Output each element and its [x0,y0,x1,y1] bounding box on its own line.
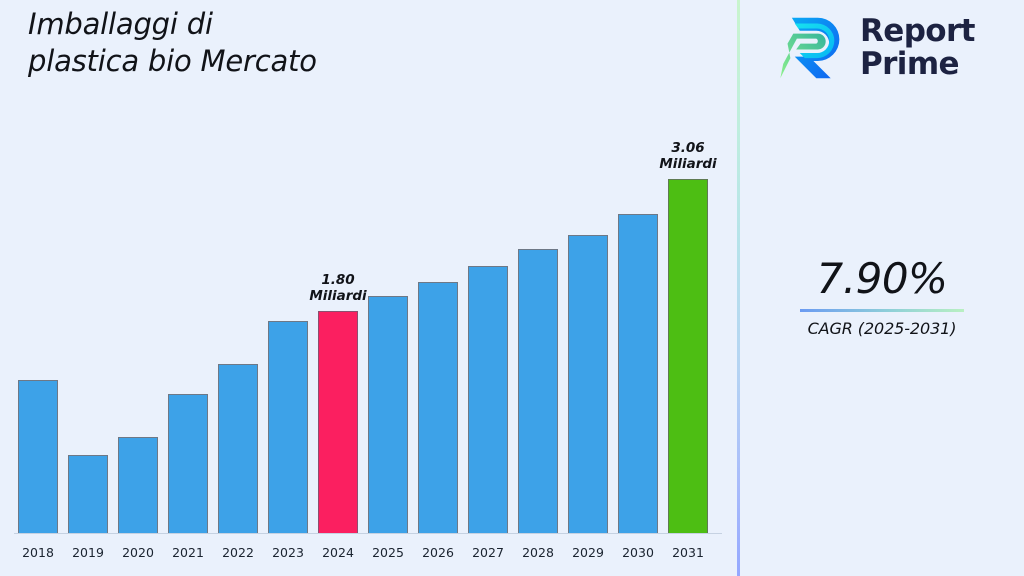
bar-chart-plot-area: 20182019202020212022202320241.80 Miliard… [0,0,737,576]
x-tick-2030: 2030 [610,545,666,560]
bar-2021 [168,394,208,533]
brand-wordmark: Report Prime [860,15,975,81]
bar-value-label-2031: 3.06 Miliardi [631,141,745,172]
x-tick-2028: 2028 [510,545,566,560]
chart-panel: Imballaggi di plastica bio Mercato 20182… [0,0,737,576]
x-tick-2029: 2029 [560,545,616,560]
brand-logo: Report Prime [776,12,975,84]
cagr-caption: CAGR (2025-2031) [740,319,1024,338]
x-tick-2031: 2031 [660,545,716,560]
x-tick-2025: 2025 [360,545,416,560]
x-tick-2018: 2018 [10,545,66,560]
bar-2020 [118,437,158,533]
x-tick-2026: 2026 [410,545,466,560]
bar-2025 [368,296,408,533]
report-prime-r-logo-icon [776,12,848,84]
x-tick-2024: 2024 [310,545,366,560]
x-axis-line [14,533,722,534]
x-tick-2027: 2027 [460,545,516,560]
cagr-value: 7.90% [740,258,1024,300]
bar-2027 [468,266,508,533]
cagr-divider-rule [800,309,964,312]
x-tick-2019: 2019 [60,545,116,560]
bar-2030 [618,214,658,533]
bar-2022 [218,364,258,533]
x-tick-2023: 2023 [260,545,316,560]
bar-2018 [18,380,58,533]
bar-2019 [68,455,108,533]
bar-2023 [268,321,308,533]
cagr-block: 7.90% CAGR (2025-2031) [740,258,1024,338]
bar-2029 [568,235,608,533]
bar-2031 [668,179,708,533]
infographic-root: Imballaggi di plastica bio Mercato 20182… [0,0,1024,576]
bar-2028 [518,249,558,533]
brand-panel: Report Prime 7.90% CAGR (2025-2031) [740,0,1024,576]
bar-2026 [418,282,458,533]
x-tick-2022: 2022 [210,545,266,560]
bar-2024 [318,311,358,533]
x-tick-2020: 2020 [110,545,166,560]
x-tick-2021: 2021 [160,545,216,560]
